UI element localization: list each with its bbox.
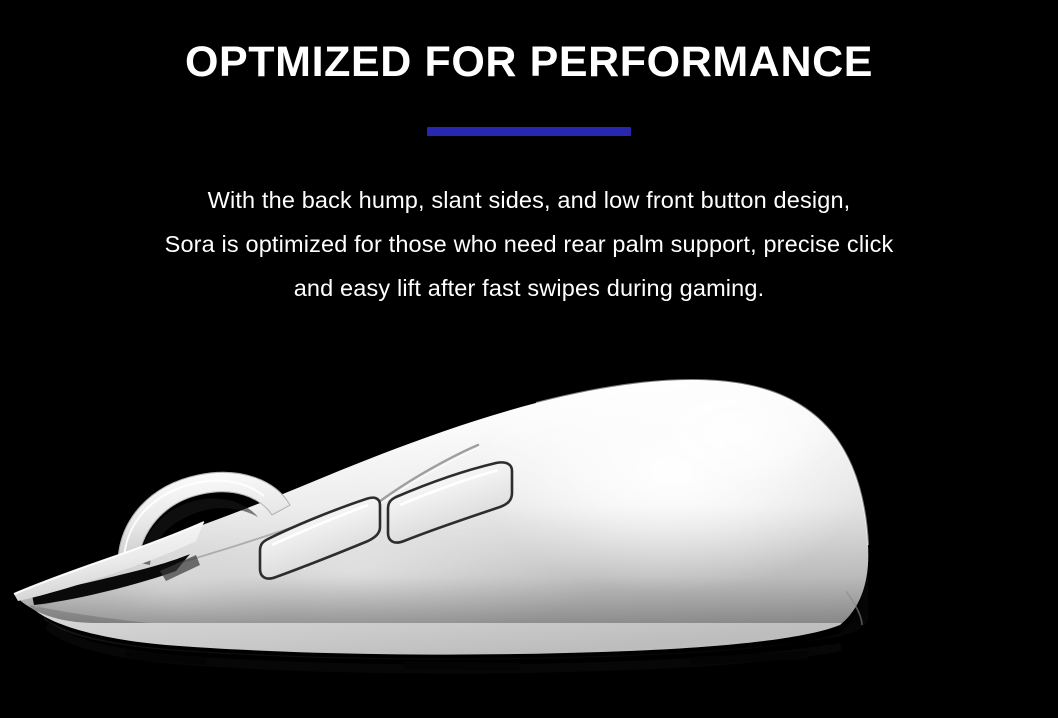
- product-image-stage: [0, 355, 1058, 718]
- accent-divider: [427, 127, 631, 136]
- description-line-2: Sora is optimized for those who need rea…: [0, 222, 1058, 266]
- mouse-foot-rear: [690, 651, 808, 665]
- description-paragraph: With the back hump, slant sides, and low…: [0, 178, 1058, 310]
- promo-page: OPTMIZED FOR PERFORMANCE With the back h…: [0, 0, 1058, 718]
- divider-container: [0, 127, 1058, 136]
- description-line-1: With the back hump, slant sides, and low…: [0, 178, 1058, 222]
- description-line-3: and easy lift after fast swipes during g…: [0, 266, 1058, 310]
- page-title: OPTMIZED FOR PERFORMANCE: [0, 38, 1058, 86]
- mouse-product-image: [0, 355, 1058, 718]
